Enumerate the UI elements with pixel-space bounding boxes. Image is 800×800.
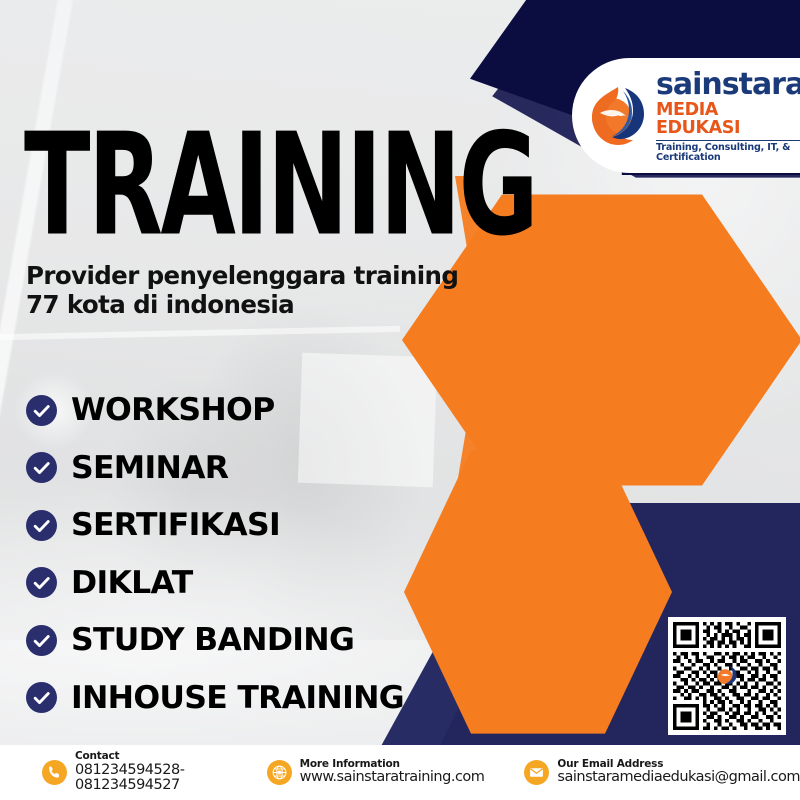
globe-icon bbox=[267, 760, 292, 785]
list-item: DIKLAT bbox=[26, 565, 404, 601]
list-item-label: STUDY BANDING bbox=[71, 622, 354, 658]
list-item: INHOUSE TRAINING bbox=[26, 680, 404, 716]
footer-email-value: sainstaramediaedukasi@gmail.com bbox=[557, 770, 800, 786]
list-item-label: SEMINAR bbox=[71, 450, 228, 486]
logo-subtitle: MEDIA EDUKASI bbox=[656, 102, 800, 137]
phone-icon bbox=[42, 760, 67, 785]
service-list: WORKSHOP SEMINAR SERTIFIKASI DIKLAT STUD… bbox=[26, 392, 404, 716]
footer-contact-value: 081234594528-081234594527 bbox=[75, 763, 225, 794]
list-item: SERTIFIKASI bbox=[26, 507, 404, 543]
page-title: TRAINING bbox=[24, 126, 536, 245]
check-circle-icon bbox=[26, 682, 57, 713]
sainstara-logo-icon bbox=[716, 665, 738, 687]
qr-code-block[interactable] bbox=[668, 617, 786, 735]
check-circle-icon bbox=[26, 567, 57, 598]
list-item-label: WORKSHOP bbox=[71, 392, 275, 428]
logo-wordmark: sainstara MEDIA EDUKASI Training, Consul… bbox=[656, 68, 800, 162]
logo-name: sainstara bbox=[656, 70, 800, 100]
footer-website-value: www.sainstaratraining.com bbox=[300, 770, 485, 786]
footer-bar: Contact 081234594528-081234594527 More I… bbox=[0, 745, 800, 800]
logo-tagline: Training, Consulting, IT, & Certificatio… bbox=[656, 143, 800, 162]
footer-email-text: Our Email Address sainstaramediaedukasi@… bbox=[557, 759, 800, 786]
footer-contact-text: Contact 081234594528-081234594527 bbox=[75, 751, 225, 794]
footer-contact-label: Contact bbox=[75, 751, 225, 762]
poster-canvas: sainstara MEDIA EDUKASI Training, Consul… bbox=[0, 0, 800, 800]
logo-divider bbox=[656, 140, 800, 142]
check-circle-icon bbox=[26, 625, 57, 656]
list-item: SEMINAR bbox=[26, 450, 404, 486]
footer-website-text: More Information www.sainstaratraining.c… bbox=[300, 759, 485, 786]
email-icon bbox=[524, 760, 549, 785]
list-item-label: SERTIFIKASI bbox=[71, 507, 280, 543]
footer-contact[interactable]: Contact 081234594528-081234594527 bbox=[42, 751, 225, 794]
hexagon-orange-border-2 bbox=[404, 446, 672, 738]
flame-droplet-logo-icon bbox=[588, 85, 646, 147]
check-circle-icon bbox=[26, 395, 57, 426]
list-item: STUDY BANDING bbox=[26, 622, 404, 658]
list-item-label: INHOUSE TRAINING bbox=[71, 680, 404, 716]
hexagon-photo-frame-2 bbox=[404, 446, 672, 738]
footer-email[interactable]: Our Email Address sainstaramediaedukasi@… bbox=[524, 759, 800, 786]
footer-website[interactable]: More Information www.sainstaratraining.c… bbox=[267, 759, 485, 786]
list-item-label: DIKLAT bbox=[71, 565, 193, 601]
check-circle-icon bbox=[26, 452, 57, 483]
check-circle-icon bbox=[26, 510, 57, 541]
brand-logo: sainstara MEDIA EDUKASI Training, Consul… bbox=[572, 58, 800, 173]
list-item: WORKSHOP bbox=[26, 392, 404, 428]
page-subtitle: Provider penyelenggara training 77 kota … bbox=[26, 262, 496, 320]
